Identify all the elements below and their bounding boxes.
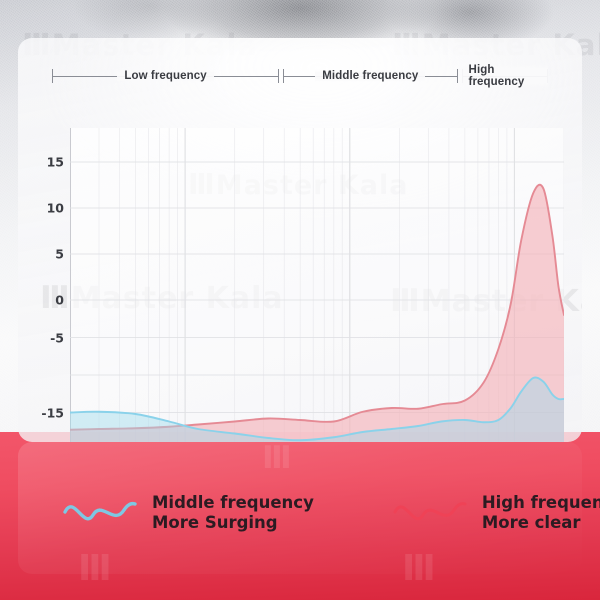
legend-line-1: High frequency — [482, 493, 600, 513]
band-cap-right — [457, 69, 458, 83]
frequency-band-header: Low frequency Middle frequency High freq… — [52, 66, 548, 86]
y-axis-tick: 0 — [30, 293, 64, 308]
band-cap-left — [52, 69, 53, 83]
frequency-response-plot — [70, 128, 564, 442]
chart-legend: Middle frequency More Surging High frequ… — [0, 480, 600, 546]
band-high-frequency: High frequency — [462, 66, 548, 86]
legend-item-middle-frequency: Middle frequency More Surging — [62, 493, 314, 533]
sine-wave-icon — [392, 496, 468, 530]
sine-wave-icon — [62, 496, 138, 530]
legend-item-high-frequency: High frequency More clear — [392, 493, 600, 533]
y-axis-tick: 5 — [30, 247, 64, 262]
band-cap-left — [283, 69, 284, 83]
legend-label-middle-frequency: Middle frequency More Surging — [152, 493, 314, 533]
band-middle-frequency: Middle frequency — [283, 66, 457, 86]
legend-line-2: More Surging — [152, 513, 314, 533]
y-axis: 151050-5-15-20 — [26, 128, 64, 442]
band-label: Low frequency — [117, 70, 213, 82]
y-axis-tick: 10 — [30, 201, 64, 216]
band-cap-right — [278, 69, 279, 83]
y-axis-tick: 15 — [30, 155, 64, 170]
plot-canvas — [70, 128, 564, 442]
band-label: Middle frequency — [315, 70, 425, 82]
y-axis-tick: -5 — [30, 330, 64, 345]
legend-label-high-frequency: High frequency More clear — [482, 493, 600, 533]
chart-card: ⅢMaster Kala ⅢMaster Kala ⅢMaster Kala L… — [18, 38, 582, 442]
legend-line-2: More clear — [482, 513, 600, 533]
y-axis-tick: -15 — [30, 405, 64, 420]
band-low-frequency: Low frequency — [52, 66, 279, 86]
band-label: High frequency — [462, 64, 548, 88]
infographic-stage: ⅢMaster Kala ⅢMaster Kala ⅢMaster Kala Ⅲ… — [0, 0, 600, 600]
legend-line-1: Middle frequency — [152, 493, 314, 513]
